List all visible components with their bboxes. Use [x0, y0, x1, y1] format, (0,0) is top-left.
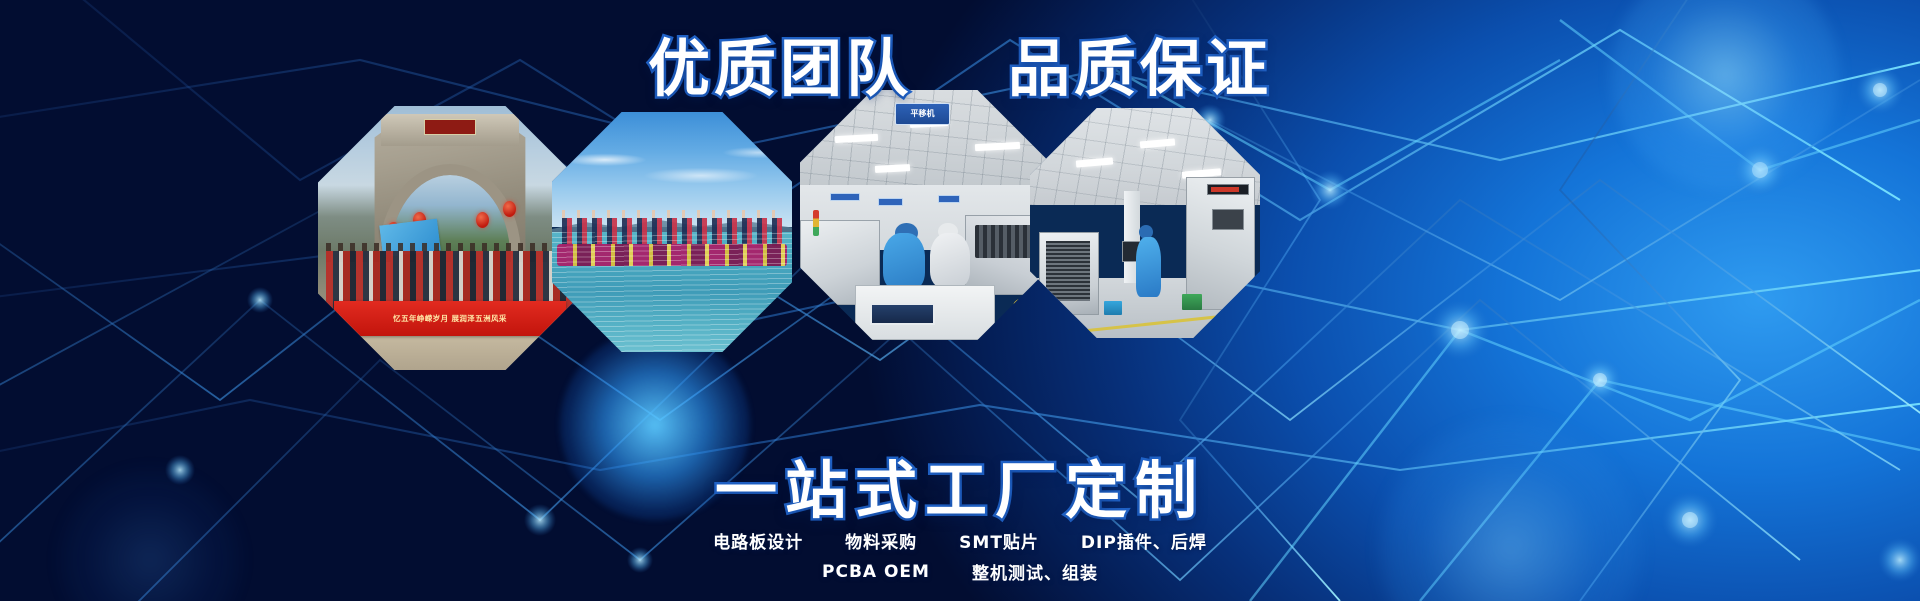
main-slogan: 一站式工厂定制	[0, 440, 1920, 530]
photo-red-banner-text: 忆五年峥嵘岁月 展润泽五洲风采	[393, 313, 507, 324]
service-item-pcb-design: 电路板设计	[713, 528, 803, 553]
service-row-2: PCBA OEM 整机测试、组装	[0, 559, 1920, 584]
service-item-smt-assembly: SMT贴片	[959, 528, 1039, 553]
headline-row: 优质团队 品质保证	[0, 18, 1920, 108]
service-item-pcba-oem: PCBA OEM	[822, 562, 930, 582]
service-row-1: 电路板设计 物料采购 SMT贴片 DIP插件、后焊	[0, 528, 1920, 553]
photo-smt-production-line: 平移机	[800, 90, 1050, 340]
service-item-material-sourcing: 物料采购	[845, 528, 917, 553]
photo-clean-room-workshop	[1030, 108, 1260, 338]
photo-dragon-boat-team	[552, 112, 792, 352]
photo-machine-sign-text: 平移机	[911, 108, 935, 119]
photo-team-outing-archway: 忆五年峥嵘岁月 展润泽五洲风采	[318, 106, 582, 370]
main-slogan-text: 一站式工厂定制	[715, 440, 1205, 530]
photo-red-banner: 忆五年峥嵘岁月 展润泽五洲风采	[334, 301, 566, 335]
service-item-dip-insertion: DIP插件、后焊	[1081, 528, 1207, 553]
promo-banner: 忆五年峥嵘岁月 展润泽五洲风采	[0, 0, 1920, 601]
service-item-final-test-assembly: 整机测试、组装	[972, 559, 1098, 584]
service-list: 电路板设计 物料采购 SMT贴片 DIP插件、后焊 PCBA OEM 整机测试、…	[0, 528, 1920, 590]
headline-word-quality-team: 优质团队	[648, 18, 912, 108]
headline-word-quality-assurance: 品质保证	[1008, 18, 1272, 108]
